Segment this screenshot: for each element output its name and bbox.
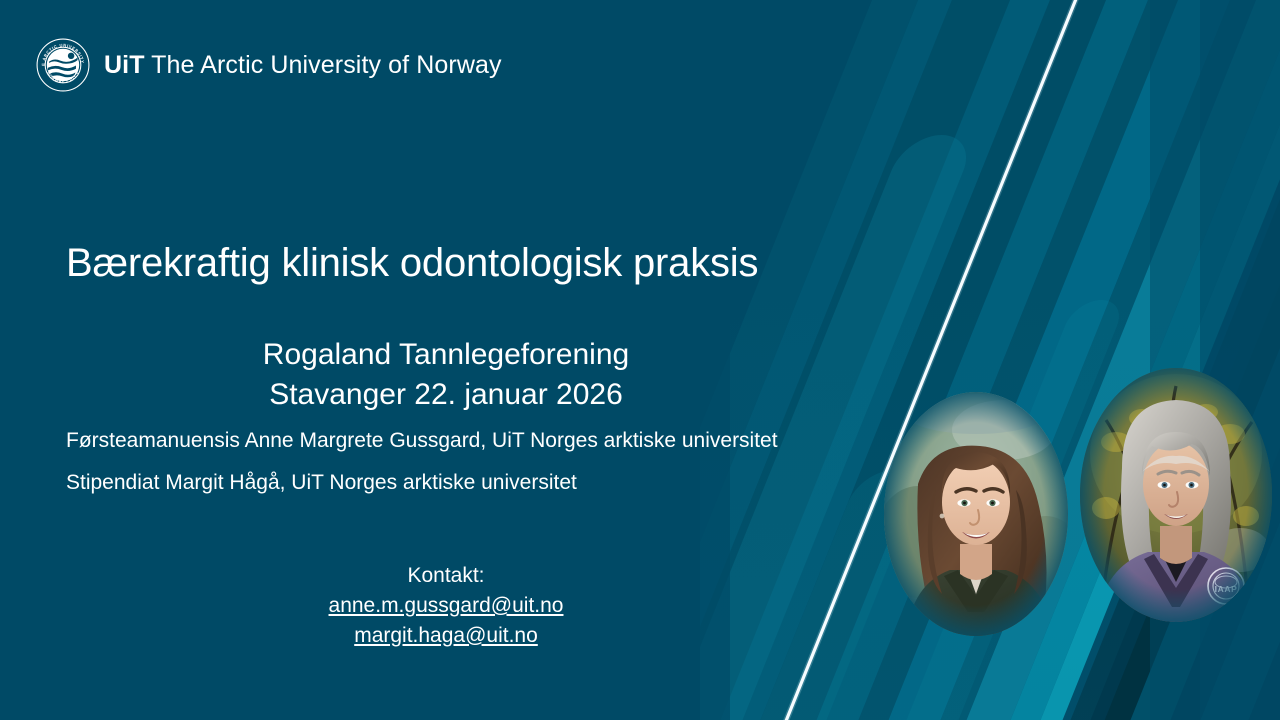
slide-main-title: Bærekraftig klinisk odontologisk praksis xyxy=(66,240,758,286)
uit-seal-icon: THE ARCTIC UNIVERSITY OF NORWAY • UiT • xyxy=(36,38,90,92)
subtitle-line-event: Rogaland Tannlegeforening xyxy=(66,335,826,375)
portrait-anne-gussgard-image: IAAP xyxy=(1080,368,1272,622)
portrait-anne-gussgard: IAAP xyxy=(1080,368,1272,622)
portrait-margit-haga xyxy=(884,392,1068,636)
uit-wordmark-bold: UiT xyxy=(104,51,145,79)
contact-email-haga[interactable]: margit.haga@uit.no xyxy=(66,621,826,651)
presenter-line-haga: Stipendiat Margit Hågå, UiT Norges arkti… xyxy=(66,472,778,493)
presenter-line-gussgard: Førsteamanuensis Anne Margrete Gussgard,… xyxy=(66,430,778,451)
presenter-list: Førsteamanuensis Anne Margrete Gussgard,… xyxy=(66,430,778,514)
presentation-title-slide: THE ARCTIC UNIVERSITY OF NORWAY • UiT • … xyxy=(0,0,1280,720)
slide-subtitle: Rogaland Tannlegeforening Stavanger 22. … xyxy=(66,335,826,414)
uit-wordmark: UiT The Arctic University of Norway xyxy=(104,53,502,78)
contact-block: Kontakt: anne.m.gussgard@uit.no margit.h… xyxy=(66,561,826,650)
contact-email-gussgard[interactable]: anne.m.gussgard@uit.no xyxy=(66,591,826,621)
contact-label: Kontakt: xyxy=(66,561,826,591)
uit-logo-lockup: THE ARCTIC UNIVERSITY OF NORWAY • UiT • … xyxy=(36,38,502,92)
portrait-margit-haga-image xyxy=(884,392,1068,636)
subtitle-line-place-date: Stavanger 22. januar 2026 xyxy=(66,375,826,415)
uit-wordmark-rest: The Arctic University of Norway xyxy=(145,51,502,79)
